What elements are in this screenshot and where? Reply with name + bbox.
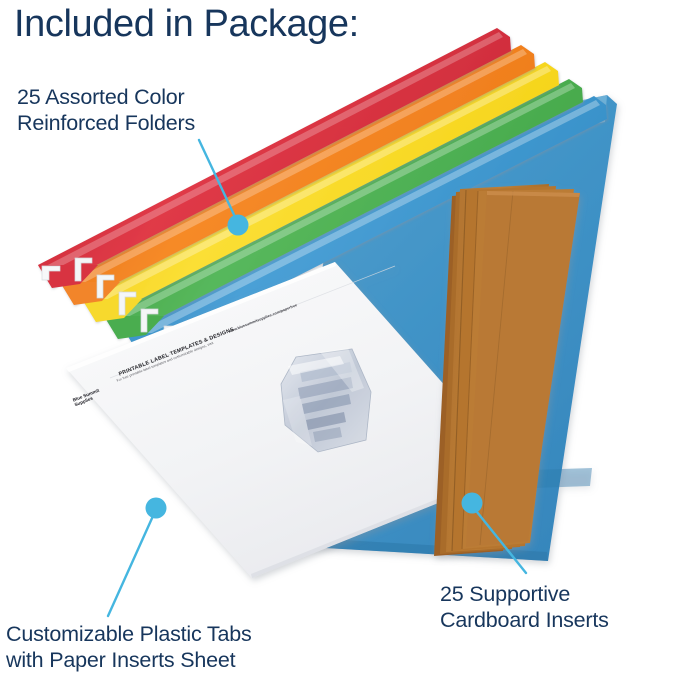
callout-label-plastic-tabs: Customizable Plastic Tabs with Paper Ins… bbox=[6, 621, 252, 673]
leader-dot-cardboard bbox=[462, 493, 483, 514]
callout-label-folders: 25 Assorted Color Reinforced Folders bbox=[17, 84, 195, 136]
plastic-tabs-bag bbox=[281, 348, 371, 452]
leader-line-tabs bbox=[108, 516, 153, 616]
infographic-canvas: PRINTABLE LABEL TEMPLATES & DESIGNS For … bbox=[0, 0, 679, 687]
callout-label-cardboard-inserts: 25 Supportive Cardboard Inserts bbox=[440, 581, 609, 633]
page-title: Included in Package: bbox=[14, 2, 359, 46]
leader-dot-tabs bbox=[146, 498, 167, 519]
leader-dot-folders bbox=[228, 215, 249, 236]
